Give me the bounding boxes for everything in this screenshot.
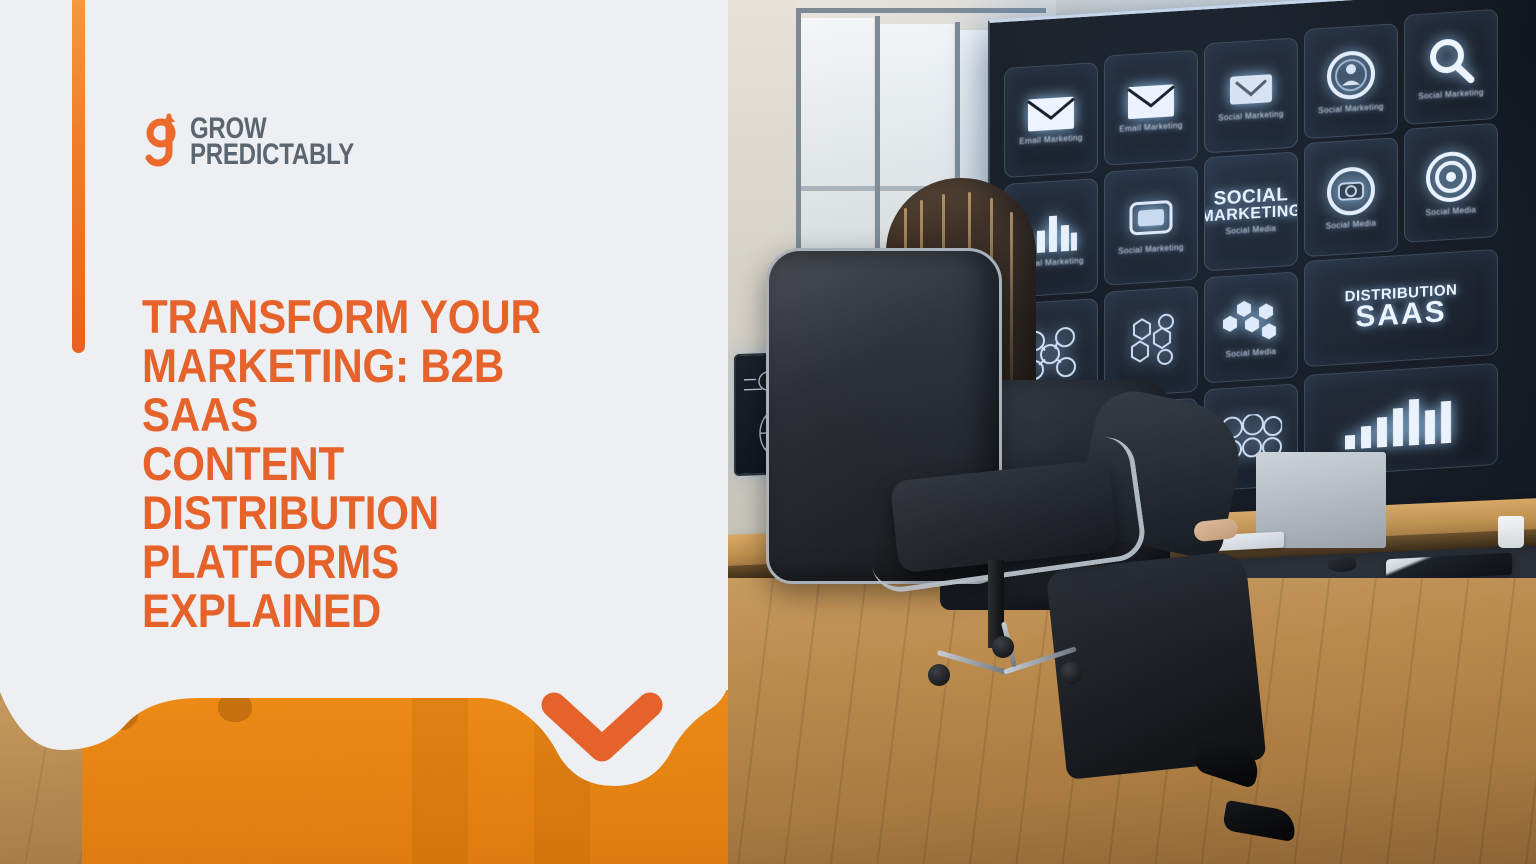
tile-big-line2: SAAS: [1345, 297, 1458, 333]
brand-logo: GROW PREDICTABLY: [139, 112, 395, 172]
tile-social-marketing-text: SOCIAL MARKETING Social Media: [1204, 151, 1298, 271]
office-photograph: Email Marketing Email Marketing Social M…: [726, 0, 1536, 864]
tablet: [1386, 553, 1512, 582]
tile-mail-open: Social Marketing: [1204, 37, 1298, 153]
scroll-down-button[interactable]: [538, 687, 666, 775]
mouse: [1328, 556, 1356, 572]
chevron-down-icon[interactable]: [538, 687, 666, 775]
tile-caption: Social Marketing: [1418, 87, 1484, 100]
office-chair-post: [988, 560, 1004, 648]
user-badge-icon: [1326, 48, 1376, 101]
coffee-cup: [1498, 516, 1524, 548]
mail-open-icon: [1228, 70, 1274, 109]
headline-line-3: CONTENT DISTRIBUTION: [142, 440, 625, 538]
tile-target: Social Media: [1404, 123, 1498, 243]
tile-caption: Email Marketing: [1019, 133, 1082, 146]
bar-chart-icon: [1341, 388, 1461, 452]
tile-dot-grid: Social Media: [1204, 271, 1298, 383]
tile-email-marketing-1: Email Marketing: [1004, 62, 1098, 178]
tile-camera-badge: Social Media: [1304, 137, 1398, 257]
brand-logo-wordmark: GROW PREDICTABLY: [190, 116, 395, 168]
target-icon: [1425, 149, 1477, 204]
headline-line-1: TRANSFORM YOUR: [142, 293, 625, 342]
monitor-icon: [1127, 197, 1175, 242]
tile-monitor: Social Marketing: [1104, 166, 1198, 286]
tile-user-badge: Social Marketing: [1304, 23, 1398, 139]
g-growth-arrow-logo: [139, 112, 185, 172]
tile-caption: Social Media: [1326, 218, 1377, 230]
headline-line-4: PLATFORMS EXPLAINED: [142, 538, 625, 636]
tile-search: Social Marketing: [1404, 9, 1498, 125]
tile-caption: Social Marketing: [1318, 102, 1384, 115]
dot-grid-icon: [1222, 296, 1280, 346]
hexagon-network-icon: [1121, 312, 1181, 372]
tile-email-marketing-2: Email Marketing: [1104, 50, 1198, 166]
brand-logo-line2: PREDICTABLY: [190, 142, 354, 168]
envelope-icon: [1027, 95, 1075, 132]
office-chair-base: [926, 640, 1086, 684]
hero-banner: Email Marketing Email Marketing Social M…: [0, 0, 1536, 864]
tile-distribution-saas-text: DISTRIBUTION SAAS: [1304, 249, 1498, 367]
tile-caption: Social Marketing: [1118, 242, 1184, 255]
orange-accent-bar: [72, 0, 85, 353]
search-icon: [1426, 34, 1476, 87]
tile-caption: Social Media: [1226, 346, 1277, 358]
content-panel: GROW PREDICTABLY TRANSFORM YOUR MARKETIN…: [0, 0, 728, 864]
headline-line-2: MARKETING: B2B SAAS: [142, 342, 625, 440]
tile-caption: Email Marketing: [1119, 120, 1182, 133]
envelope-icon: [1127, 83, 1175, 120]
tile-caption: Social Media: [1426, 205, 1477, 217]
camera-badge-icon: [1326, 164, 1376, 217]
tile-caption: Social Marketing: [1218, 109, 1284, 122]
tile-caption: Social Media: [1226, 224, 1277, 236]
page-title: TRANSFORM YOUR MARKETING: B2B SAAS CONTE…: [142, 293, 625, 635]
